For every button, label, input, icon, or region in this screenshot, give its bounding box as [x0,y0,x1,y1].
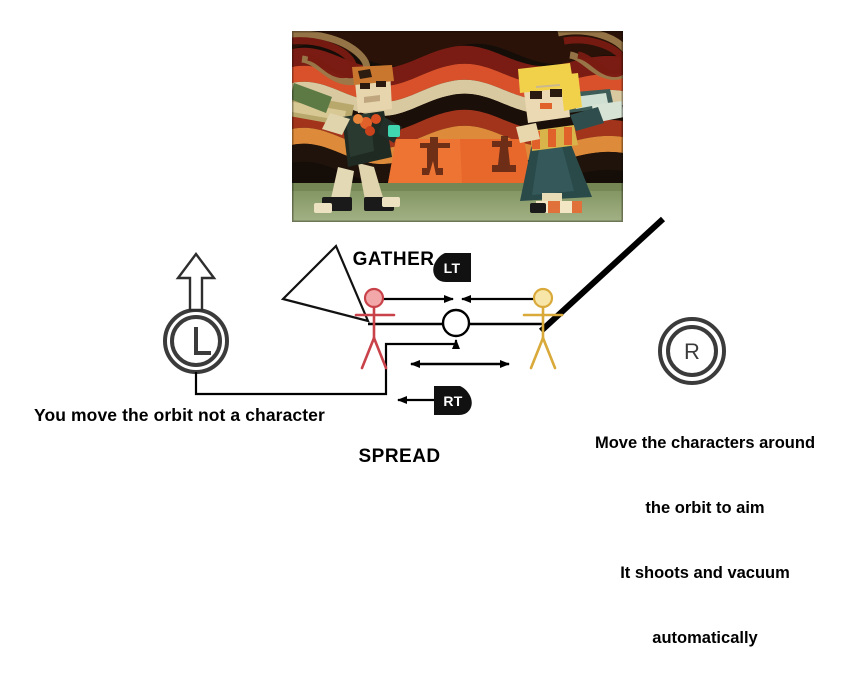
aim-note-line-2: the orbit to aim [554,498,856,520]
spread-label-text: SPREAD [358,446,440,467]
right-trigger-button[interactable]: RT [434,386,472,415]
aim-note-line-3: It shoots and vacuum [554,563,856,585]
orbit-circle [443,310,469,336]
gather-label: GATHER [0,227,860,294]
red-stick-figure [356,289,394,368]
left-stick-connector [196,340,456,394]
right-stick-label: R [684,339,700,364]
aim-note-line-4: automatically [554,628,856,650]
aim-note: Move the characters around the orbit to … [554,389,856,694]
yellow-stick-figure [524,289,562,368]
right-trigger-icon [434,386,472,415]
game-screenshot [292,31,623,222]
orbit-note: You move the orbit not a character [34,405,325,426]
screenshot-root: R [0,0,860,510]
game-screenshot-art [292,31,623,222]
aim-note-line-1: Move the characters around [554,433,856,455]
right-stick-icon[interactable]: R [660,319,724,383]
gather-label-text: GATHER [353,249,435,270]
